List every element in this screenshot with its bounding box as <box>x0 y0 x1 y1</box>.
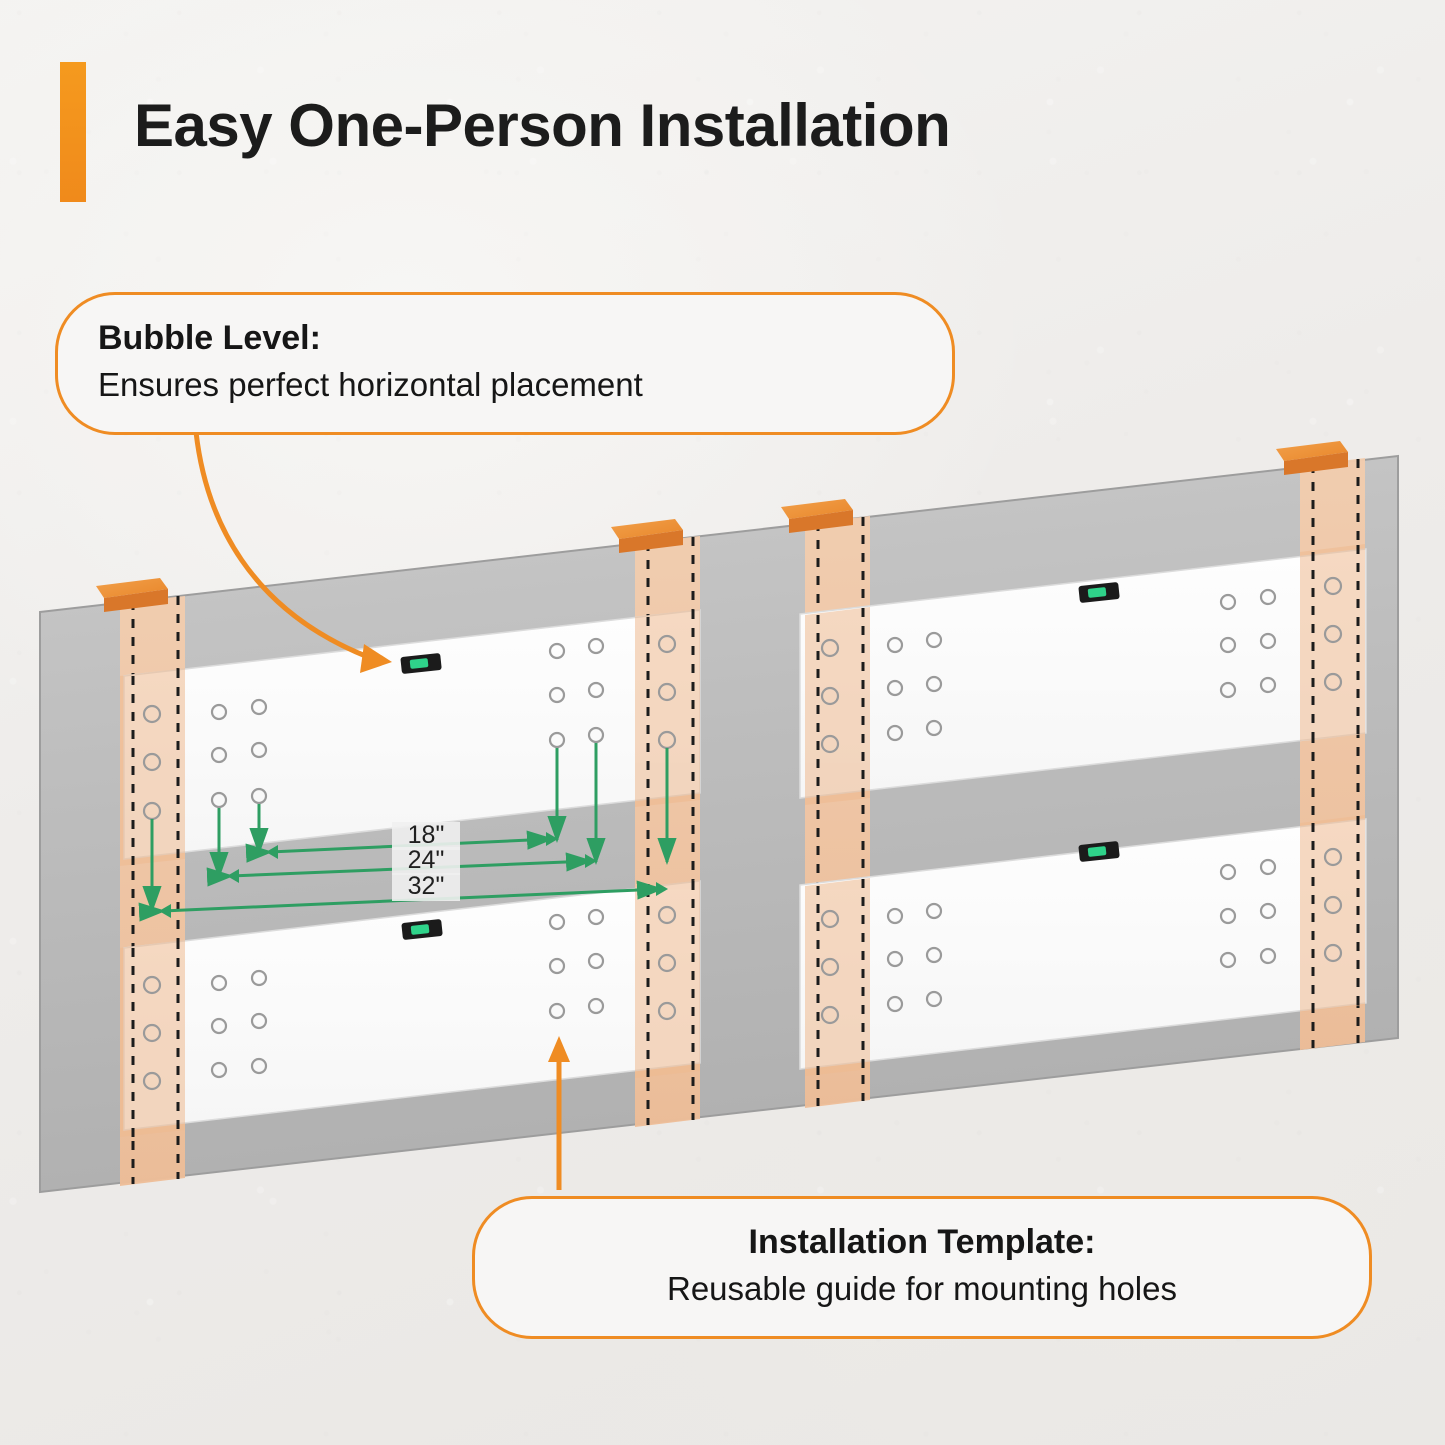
callout-installation-template-subtitle: Reusable guide for mounting holes <box>515 1268 1329 1311</box>
callout-bubble-level-subtitle: Ensures perfect horizontal placement <box>98 364 912 407</box>
callout-installation-template: Installation Template: Reusable guide fo… <box>472 1196 1372 1339</box>
header: Easy One-Person Installation <box>60 62 950 202</box>
page-title: Easy One-Person Installation <box>134 94 950 157</box>
dimension-labels: 18" 24" 32" <box>392 821 460 901</box>
callout-installation-template-title: Installation Template: <box>515 1221 1329 1264</box>
dimension-label-24: 24" <box>408 846 445 874</box>
header-accent-bar <box>60 62 86 202</box>
dimension-label-18: 18" <box>408 821 445 849</box>
callout-bubble-level: Bubble Level: Ensures perfect horizontal… <box>55 292 955 435</box>
dimension-label-32: 32" <box>408 872 445 900</box>
callout-bubble-level-title: Bubble Level: <box>98 317 912 360</box>
